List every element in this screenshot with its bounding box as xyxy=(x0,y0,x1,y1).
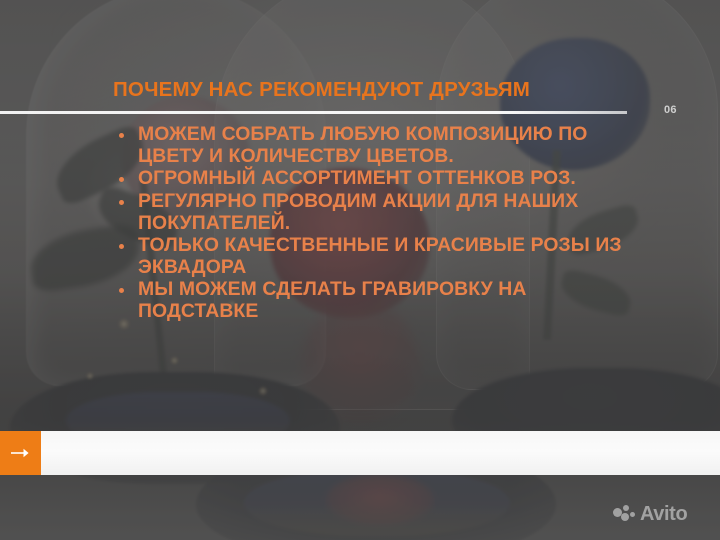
arrow-right-icon xyxy=(11,447,31,459)
list-item-label: ОГРОМНЫЙ АССОРТИМЕНТ ОТТЕНКОВ РОЗ. xyxy=(138,167,576,189)
next-slide-button[interactable] xyxy=(0,431,41,475)
list-item-label: РЕГУЛЯРНО ПРОВОДИМ АКЦИИ ДЛЯ НАШИХ ПОКУП… xyxy=(138,190,578,234)
list-item: ОГРОМНЫЙ АССОРТИМЕНТ ОТТЕНКОВ РОЗ. xyxy=(113,168,643,190)
list-item: ТОЛЬКО КАЧЕСТВЕННЫЕ И КРАСИВЫЕ РОЗЫ ИЗ Э… xyxy=(113,235,643,278)
benefits-list: МОЖЕМ СОБРАТЬ ЛЮБУЮ КОМПОЗИЦИЮ ПО ЦВЕТУ … xyxy=(113,124,643,324)
avito-watermark: Avito xyxy=(613,504,687,524)
list-item: МЫ МОЖЕМ СДЕЛАТЬ ГРАВИРОВКУ НА ПОДСТАВКЕ xyxy=(113,279,643,322)
list-item: РЕГУЛЯРНО ПРОВОДИМ АКЦИИ ДЛЯ НАШИХ ПОКУП… xyxy=(113,191,643,234)
avito-dots-icon xyxy=(613,505,635,523)
list-item-label: ТОЛЬКО КАЧЕСТВЕННЫЕ И КРАСИВЫЕ РОЗЫ ИЗ Э… xyxy=(138,234,622,278)
title-divider xyxy=(0,111,627,114)
page-number: 06 xyxy=(664,104,677,116)
bottom-bar xyxy=(0,431,720,475)
list-item: МОЖЕМ СОБРАТЬ ЛЮБУЮ КОМПОЗИЦИЮ ПО ЦВЕТУ … xyxy=(113,124,643,167)
list-item-label: МОЖЕМ СОБРАТЬ ЛЮБУЮ КОМПОЗИЦИЮ ПО ЦВЕТУ … xyxy=(138,123,587,167)
list-item-label: МЫ МОЖЕМ СДЕЛАТЬ ГРАВИРОВКУ НА ПОДСТАВКЕ xyxy=(138,278,527,322)
avito-wordmark: Avito xyxy=(640,504,687,524)
presentation-slide: ПОЧЕМУ НАС РЕКОМЕНДУЮТ ДРУЗЬЯМ 06 МОЖЕМ … xyxy=(0,0,720,540)
slide-content: ПОЧЕМУ НАС РЕКОМЕНДУЮТ ДРУЗЬЯМ 06 МОЖЕМ … xyxy=(0,0,720,540)
page-title: ПОЧЕМУ НАС РЕКОМЕНДУЮТ ДРУЗЬЯМ xyxy=(113,79,673,102)
